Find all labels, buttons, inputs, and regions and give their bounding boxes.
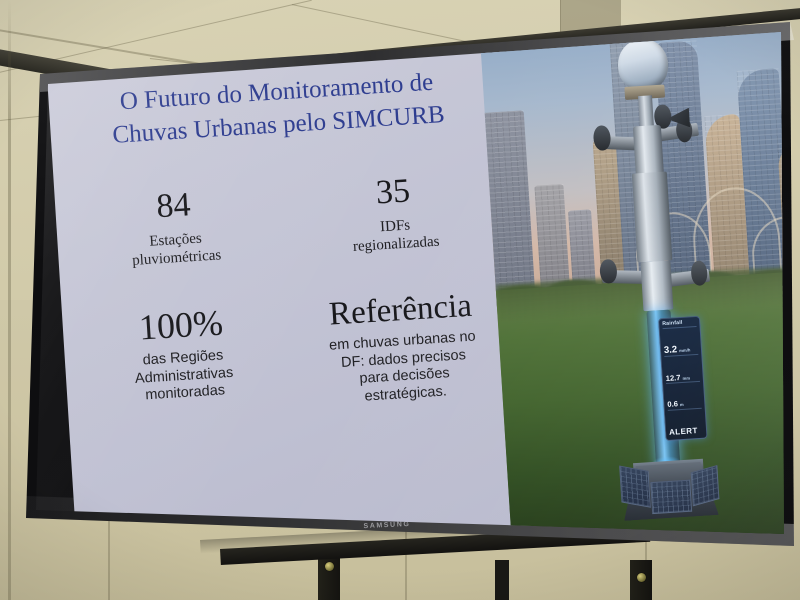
mount-post (495, 560, 509, 600)
wall-corner-edge (8, 0, 11, 600)
mount-screw (325, 562, 334, 571)
wall-outlet (30, 470, 48, 500)
mount-screw (637, 573, 646, 582)
room-scene: SAMSUNG O Futuro do Monitoramento de Chu… (0, 0, 800, 600)
wall-panel-seam (108, 470, 110, 600)
ceiling-seam (560, 0, 621, 120)
